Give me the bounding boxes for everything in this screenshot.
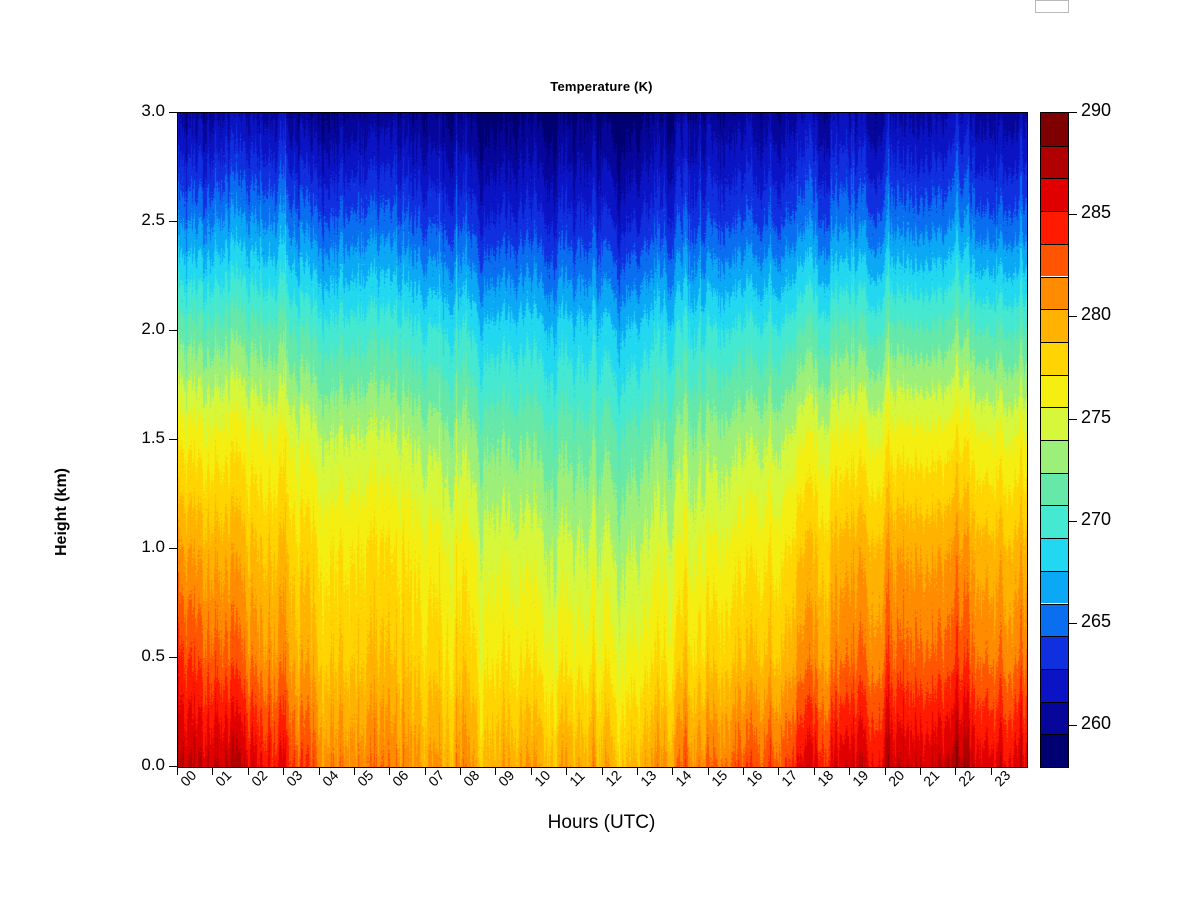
x-tick-line <box>248 767 249 775</box>
y-axis: Height (km) 0.00.51.01.52.02.53.0 <box>0 112 177 767</box>
temperature-time-height-figure: Temperature (K) Height (km) 0.00.51.01.5… <box>0 0 1200 900</box>
heatmap-plot-area <box>177 112 1028 768</box>
x-tick-label: 06 <box>389 767 411 789</box>
x-tick-line <box>672 767 673 775</box>
x-tick-line <box>920 767 921 775</box>
x-tick-label: 11 <box>566 768 588 790</box>
colorbar-tick-label: 290 <box>1081 100 1111 121</box>
colorbar-band <box>1041 505 1068 538</box>
colorbar-band <box>1041 375 1068 408</box>
colorbar-tick-line <box>1068 214 1077 215</box>
y-tick-label: 3.0 <box>141 101 165 121</box>
x-tick-line <box>283 767 284 775</box>
x-axis-title: Hours (UTC) <box>177 812 1026 834</box>
y-axis-title: Height (km) <box>53 468 71 556</box>
x-tick-line <box>708 767 709 775</box>
colorbar-band <box>1041 636 1068 669</box>
x-tick-line <box>177 767 178 775</box>
x-tick-label: 10 <box>531 767 553 789</box>
y-tick-line <box>169 766 177 767</box>
y-tick-line <box>169 439 177 440</box>
x-tick-label: 23 <box>991 767 1013 789</box>
x-tick-label: 21 <box>920 767 942 789</box>
y-tick-line <box>169 221 177 222</box>
x-tick-label: 08 <box>460 767 482 789</box>
corner-artifact <box>1035 0 1069 13</box>
colorbar-band <box>1041 342 1068 375</box>
x-tick-line <box>460 767 461 775</box>
x-tick-label: 15 <box>708 767 730 789</box>
x-tick-line <box>425 767 426 775</box>
x-tick-label: 09 <box>495 767 517 789</box>
colorbar-band <box>1041 604 1068 637</box>
x-tick-line <box>885 767 886 775</box>
x-tick-label: 18 <box>814 767 836 789</box>
colorbar-tick-label: 270 <box>1081 509 1111 530</box>
colorbar-tick-label: 275 <box>1081 407 1111 428</box>
colorbar <box>1040 112 1069 768</box>
x-tick-label: 05 <box>354 767 376 789</box>
x-tick-label: 20 <box>885 767 907 789</box>
y-tick-label: 1.0 <box>141 537 165 557</box>
colorbar-tick-line <box>1068 725 1077 726</box>
colorbar-tick-label: 265 <box>1081 611 1111 632</box>
x-tick-line <box>354 767 355 775</box>
colorbar-ticks: 260265270275280285290 <box>1068 112 1198 767</box>
colorbar-tick-label: 280 <box>1081 304 1111 325</box>
y-tick-line <box>169 112 177 113</box>
colorbar-band <box>1041 407 1068 440</box>
x-tick-label: 00 <box>177 767 199 789</box>
colorbar-tick-label: 285 <box>1081 202 1111 223</box>
x-tick-line <box>743 767 744 775</box>
colorbar-tick-line <box>1068 521 1077 522</box>
colorbar-band <box>1041 473 1068 506</box>
x-tick-label: 14 <box>672 767 694 789</box>
x-tick-label: 22 <box>955 767 977 789</box>
colorbar-band <box>1041 734 1068 767</box>
y-tick-label: 2.0 <box>141 319 165 339</box>
x-tick-line <box>495 767 496 775</box>
y-tick-label: 2.5 <box>141 210 165 230</box>
colorbar-band <box>1041 178 1068 211</box>
colorbar-band <box>1041 277 1068 310</box>
x-tick-label: 07 <box>425 767 447 789</box>
x-tick-label: 13 <box>637 767 659 789</box>
x-tick-line <box>814 767 815 775</box>
colorbar-tick-line <box>1068 623 1077 624</box>
colorbar-tick-line <box>1068 316 1077 317</box>
temperature-heatmap <box>178 113 1027 767</box>
x-tick-label: 04 <box>319 767 341 789</box>
x-tick-line <box>602 767 603 775</box>
colorbar-band <box>1041 146 1068 179</box>
colorbar-band <box>1041 440 1068 473</box>
x-tick-line <box>319 767 320 775</box>
page-title: Temperature (K) <box>177 79 1026 94</box>
colorbar-band <box>1041 211 1068 244</box>
x-tick-line <box>566 767 567 775</box>
colorbar-band <box>1041 309 1068 342</box>
colorbar-band <box>1041 702 1068 735</box>
y-tick-line <box>169 657 177 658</box>
x-tick-label: 12 <box>602 767 624 789</box>
x-tick-label: 17 <box>778 767 800 789</box>
colorbar-band <box>1041 669 1068 702</box>
x-tick-line <box>389 767 390 775</box>
x-tick-line <box>212 767 213 775</box>
y-tick-line <box>169 548 177 549</box>
x-tick-line <box>955 767 956 775</box>
x-tick-label: 01 <box>212 767 234 789</box>
y-tick-label: 0.0 <box>141 755 165 775</box>
colorbar-band <box>1041 538 1068 571</box>
y-tick-line <box>169 330 177 331</box>
x-tick-label: 16 <box>743 767 765 789</box>
x-tick-line <box>637 767 638 775</box>
x-tick-line <box>531 767 532 775</box>
y-tick-label: 0.5 <box>141 646 165 666</box>
x-tick-label: 03 <box>283 767 305 789</box>
x-tick-label: 19 <box>849 767 871 789</box>
colorbar-tick-line <box>1068 112 1077 113</box>
colorbar-tick-line <box>1068 419 1077 420</box>
colorbar-band <box>1041 244 1068 277</box>
colorbar-band <box>1041 571 1068 604</box>
y-tick-label: 1.5 <box>141 428 165 448</box>
x-tick-line <box>849 767 850 775</box>
x-tick-label: 02 <box>248 767 270 789</box>
colorbar-tick-label: 260 <box>1081 713 1111 734</box>
colorbar-band <box>1041 113 1068 146</box>
x-tick-line <box>778 767 779 775</box>
x-tick-line <box>991 767 992 775</box>
